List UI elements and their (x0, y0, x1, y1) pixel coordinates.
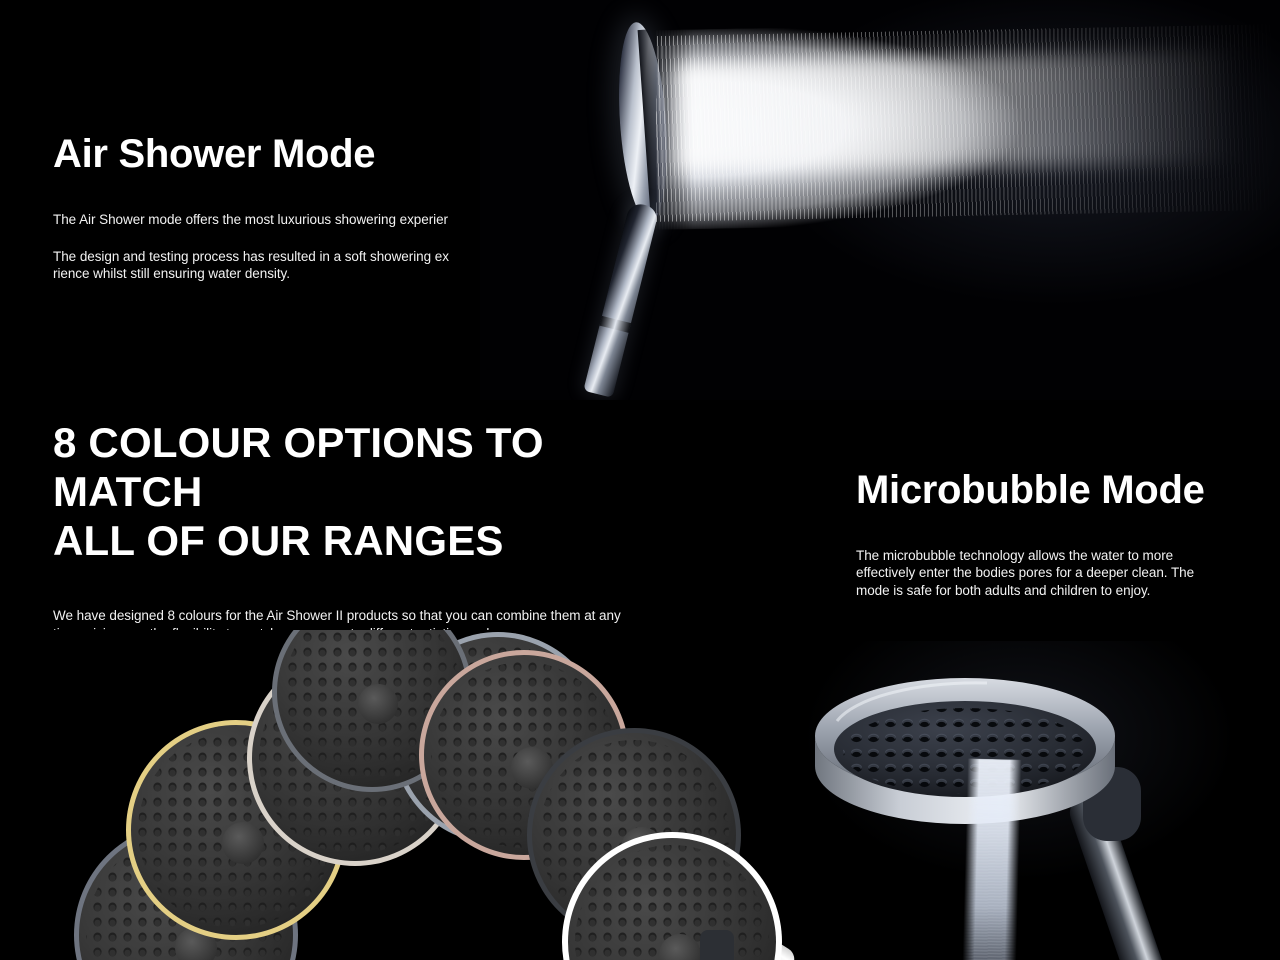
air-shower-paragraph-1-clip: The Air Shower mode offers the most luxu… (53, 211, 469, 248)
fan-hub (74, 630, 795, 960)
colour-fan-image (0, 630, 795, 960)
air-shower-heading: Air Shower Mode (53, 132, 469, 177)
colour-options-heading-line-1: 8 COLOUR OPTIONS TO MATCH (53, 419, 544, 515)
microbubble-svg (797, 641, 1280, 960)
air-shower-paragraph-2: The design and testing process has resul… (53, 248, 469, 283)
colour-options-heading-line-2: ALL OF OUR RANGES (53, 517, 504, 564)
air-shower-hero-image (480, 0, 1280, 400)
shower-handle (583, 201, 659, 397)
microbubble-water-column (962, 758, 1021, 960)
air-shower-section: Air Shower Mode The Air Shower mode offe… (0, 0, 1280, 400)
colour-fan-svg (0, 630, 795, 960)
air-shower-text-block: Air Shower Mode The Air Shower mode offe… (53, 132, 469, 283)
colour-options-heading: 8 COLOUR OPTIONS TO MATCH ALL OF OUR RAN… (53, 418, 673, 565)
microbubble-text-block: Microbubble Mode The microbubble technol… (856, 468, 1216, 599)
fan-hub-collar (700, 930, 734, 960)
microbubble-image (797, 641, 1280, 960)
water-spray-streaks (656, 24, 1276, 222)
microbubble-heading: Microbubble Mode (856, 468, 1216, 513)
air-shower-paragraph-1: The Air Shower mode offers the most luxu… (53, 211, 469, 228)
microbubble-head (815, 678, 1115, 824)
microbubble-paragraph-1: The microbubble technology allows the wa… (856, 547, 1201, 600)
